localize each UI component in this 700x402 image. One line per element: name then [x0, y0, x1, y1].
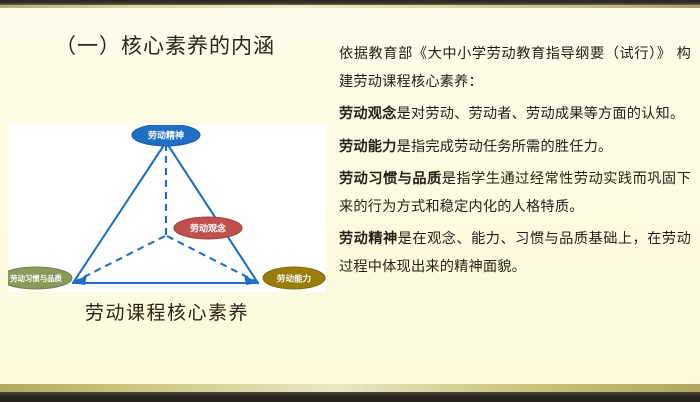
diagram-panel: 劳动精神 劳动观念 劳动习惯与品质 劳动能力 [8, 125, 326, 292]
paragraph-concept: 劳动观念是对劳动、劳动者、劳动成果等方面的认知。 [339, 100, 691, 128]
paragraph-ability-term: 劳动能力 [339, 139, 397, 155]
page-title: （一）核心素养的内涵 [55, 30, 275, 60]
paragraph-ability: 劳动能力是指完成劳动任务所需的胜任力。 [339, 133, 691, 161]
body-text-column: 依据教育部《大中小学劳动教育指导纲要（试行）》 构建劳动课程核心素养： 劳动观念… [339, 40, 691, 286]
node-concept-label: 劳动观念 [190, 223, 226, 235]
diagram-caption: 劳动课程核心素养 [8, 298, 326, 325]
paragraph-intro: 依据教育部《大中小学劳动教育指导纲要（试行）》 构建劳动课程核心素养： [339, 40, 691, 96]
paragraph-concept-term: 劳动观念 [339, 106, 397, 122]
slide-canvas: （一）核心素养的内涵 [0, 0, 700, 402]
node-habit[interactable]: 劳动习惯与品质 [8, 267, 72, 289]
top-gold-divider [0, 5, 700, 8]
node-concept[interactable]: 劳动观念 [174, 217, 242, 239]
paragraph-habit: 劳动习惯与品质是指学生通过经常性劳动实践而巩固下来的行为方式和稳定内化的人格特质… [339, 165, 691, 221]
node-ability[interactable]: 劳动能力 [263, 267, 325, 289]
paragraph-ability-text: 是指完成劳动任务所需的胜任力。 [397, 139, 613, 155]
node-habit-label: 劳动习惯与品质 [10, 274, 62, 283]
node-spirit-label: 劳动精神 [148, 130, 184, 142]
tetrahedron-solid-edges [73, 142, 258, 283]
tetrahedron-dashed-edges [74, 144, 257, 282]
paragraph-spirit-term: 劳动精神 [339, 231, 398, 247]
paragraph-concept-text: 是对劳动、劳动者、劳动成果等方面的认知。 [397, 106, 685, 122]
paragraph-habit-term: 劳动习惯与品质 [339, 171, 442, 187]
paragraph-spirit: 劳动精神是在观念、能力、习惯与品质基础上，在劳动过程中体现出来的精神面貌。 [339, 225, 691, 281]
bottom-gold-divider [0, 384, 700, 392]
core-literacy-tetrahedron: 劳动精神 劳动观念 劳动习惯与品质 劳动能力 [8, 125, 326, 292]
node-spirit[interactable]: 劳动精神 [132, 125, 200, 146]
bottom-letterbox-band [0, 392, 700, 402]
paragraph-intro-text: 依据教育部《大中小学劳动教育指导纲要（试行）》 构建劳动课程核心素养： [339, 46, 691, 90]
node-ability-label: 劳动能力 [277, 273, 311, 285]
